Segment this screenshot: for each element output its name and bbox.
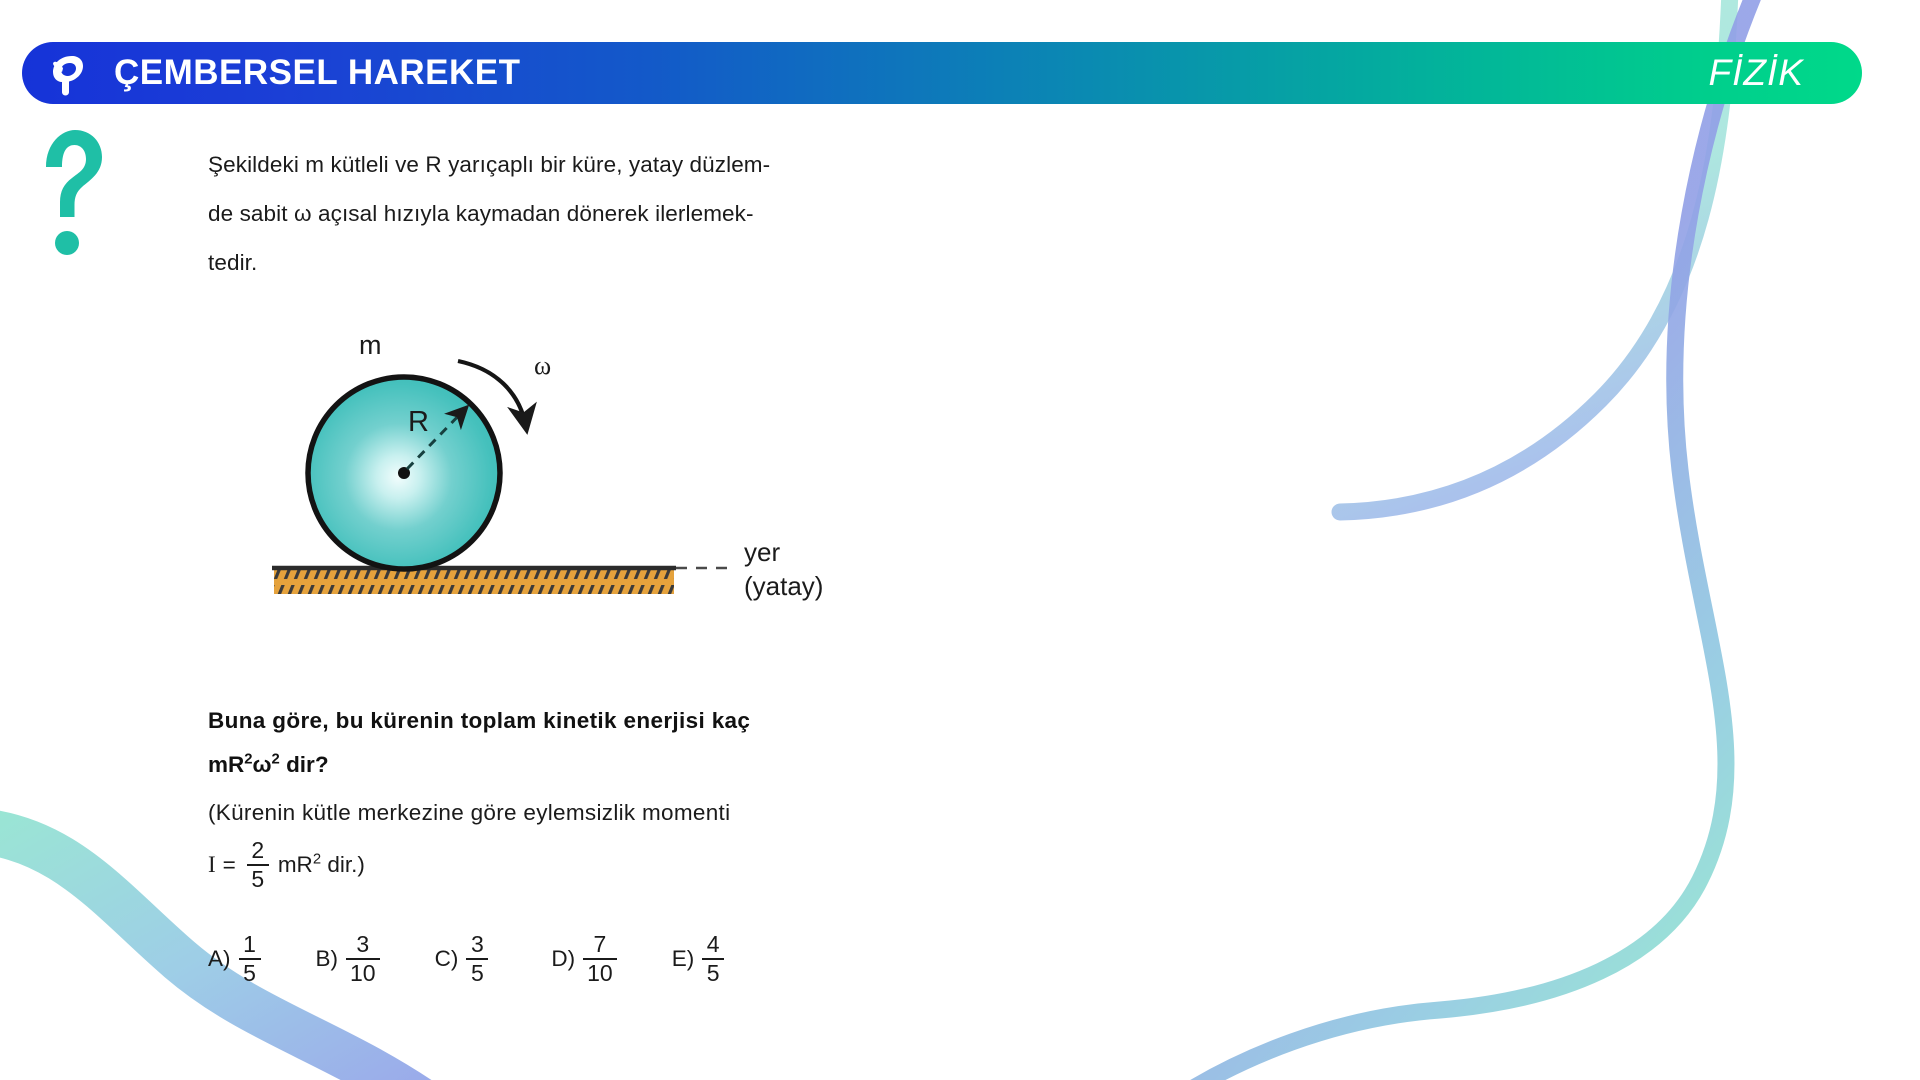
question-intro: Şekildeki m kütleli ve R yarıçaplı bir k… xyxy=(208,140,908,287)
page-title: ÇEMBERSEL HAREKET xyxy=(114,53,521,93)
prompt-base: mR xyxy=(208,752,244,777)
option-e-label: E) xyxy=(672,946,695,972)
physics-figure: m R ω yer (yatay) xyxy=(208,321,908,651)
question-prompt: Buna göre, bu kürenin toplam kinetik ene… xyxy=(208,699,908,787)
leaf-p-logo-icon xyxy=(42,48,92,98)
option-d[interactable]: D) 7 10 xyxy=(551,933,619,985)
option-c-denominator: 5 xyxy=(467,960,488,985)
option-a[interactable]: A) 1 5 xyxy=(208,933,264,985)
inertia-tail: mR2 dir.) xyxy=(278,852,365,878)
option-a-label: A) xyxy=(208,946,231,972)
prompt-exp-2: 2 xyxy=(272,752,280,768)
option-a-denominator: 5 xyxy=(239,960,260,985)
inertia-tail-base: mR xyxy=(278,852,313,877)
omega-label: ω xyxy=(534,351,551,380)
radius-label: R xyxy=(408,406,429,438)
option-b[interactable]: B) 3 10 xyxy=(316,933,383,985)
option-e[interactable]: E) 4 5 xyxy=(672,933,728,985)
prompt-exp-1: 2 xyxy=(244,752,252,768)
inertia-note: (Kürenin kütle merkezine göre eylemsizli… xyxy=(208,793,908,833)
option-d-fraction: 7 10 xyxy=(583,933,617,985)
question-mark-icon xyxy=(38,125,108,265)
ground-label-line1: yer xyxy=(744,537,780,567)
inertia-denominator: 5 xyxy=(247,866,268,891)
header-banner: ÇEMBERSEL HAREKET FİZİK xyxy=(22,42,1862,104)
option-c-fraction: 3 5 xyxy=(466,933,488,985)
subject-badge: FİZİK xyxy=(1709,52,1804,94)
answer-options: A) 1 5 B) 3 10 C) 3 5 xyxy=(208,933,908,985)
prompt-line-1: Buna göre, bu kürenin toplam kinetik ene… xyxy=(208,699,908,743)
option-a-numerator: 1 xyxy=(239,933,260,958)
option-a-fraction: 1 5 xyxy=(239,933,261,985)
inertia-numerator: 2 xyxy=(247,839,268,864)
option-c[interactable]: C) 3 5 xyxy=(435,933,492,985)
option-e-fraction: 4 5 xyxy=(702,933,724,985)
option-e-denominator: 5 xyxy=(703,960,724,985)
option-b-label: B) xyxy=(316,946,339,972)
option-d-label: D) xyxy=(551,946,575,972)
inertia-equals: = xyxy=(223,852,236,878)
prompt-omega: ω xyxy=(253,752,272,777)
option-b-fraction: 3 10 xyxy=(346,933,380,985)
option-d-denominator: 10 xyxy=(583,960,617,985)
option-c-numerator: 3 xyxy=(467,933,488,958)
decor-curve-periwinkle xyxy=(1190,0,1760,1080)
ground-surface xyxy=(272,568,676,594)
intro-line-1: Şekildeki m kütleli ve R yarıçaplı bir k… xyxy=(208,140,908,189)
inertia-tail-text: dir.) xyxy=(321,852,365,877)
inertia-formula: I = 2 5 mR2 dir.) xyxy=(208,839,908,891)
option-d-numerator: 7 xyxy=(589,933,610,958)
option-b-denominator: 10 xyxy=(346,960,380,985)
option-e-numerator: 4 xyxy=(703,933,724,958)
mass-label: m xyxy=(359,330,382,360)
intro-line-3: tedir. xyxy=(208,238,908,287)
ground-label-line2: (yatay) xyxy=(744,571,823,601)
inertia-symbol: I xyxy=(208,852,216,878)
inertia-tail-exp: 2 xyxy=(313,852,321,868)
question-content: Şekildeki m kütleli ve R yarıçaplı bir k… xyxy=(208,140,908,985)
intro-line-2: de sabit ω açısal hızıyla kaymadan döner… xyxy=(208,189,908,238)
option-c-label: C) xyxy=(435,946,459,972)
prompt-tail: dir? xyxy=(280,752,329,777)
sphere-diagram: m R ω yer (yatay) xyxy=(208,321,908,651)
option-b-numerator: 3 xyxy=(352,933,373,958)
inertia-fraction: 2 5 xyxy=(247,839,269,891)
prompt-line-2: mR2ω2 dir? xyxy=(208,743,908,787)
